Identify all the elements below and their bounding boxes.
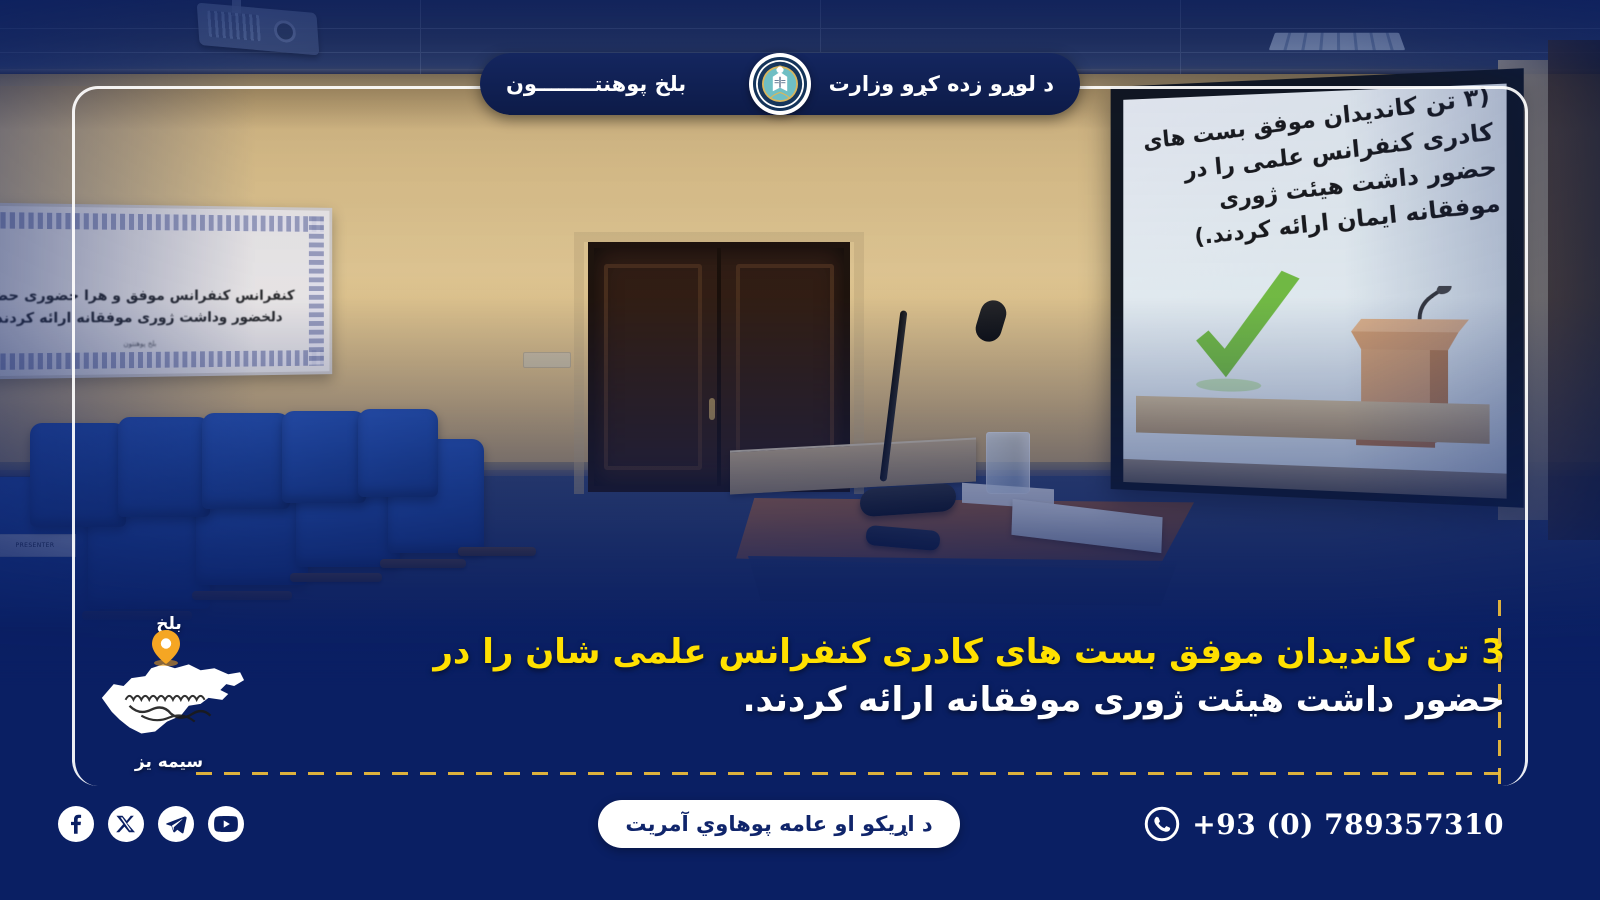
door-handle <box>709 398 715 420</box>
seat-back-row <box>30 423 126 527</box>
ceiling-light-panel <box>1269 33 1406 50</box>
auditorium-seats: PRESENTER <box>0 405 530 660</box>
header-bar: د لوړو زده کړو وزارت بلخ پوهنتــــــــون <box>480 53 1080 115</box>
phone-number: +93 (0) 789357310 <box>1192 808 1504 841</box>
seat-armrest <box>458 547 536 556</box>
banner-ornament-bottom <box>0 350 324 371</box>
seat-back-row <box>282 411 366 503</box>
projection-screen: (۳ تن کاندیدان موفق بست های کادری کنفران… <box>1111 68 1524 508</box>
social-links <box>58 806 244 842</box>
seat-armrest <box>290 573 382 582</box>
university-seal-icon <box>749 53 811 115</box>
seat-armrest <box>380 559 466 568</box>
slide-floor-strip <box>1136 396 1490 444</box>
poster-canvas: کنفرانس کنفرانس موفق و هرا حضوری حضور دل… <box>0 0 1600 900</box>
ministry-label: د لوړو زده کړو وزارت <box>829 72 1054 96</box>
seat-back-row <box>118 417 210 517</box>
contact-phone[interactable]: +93 (0) 789357310 <box>1144 806 1504 842</box>
banner-subtext: بلخ پوهنتون <box>0 338 329 350</box>
wall-switch-plate <box>523 352 571 368</box>
seat-back-row <box>202 413 290 509</box>
location-pin-icon <box>152 630 180 666</box>
banner-text: کنفرانس کنفرانس موفق و هرا حضوری حضور دل… <box>0 286 307 331</box>
youtube-icon[interactable] <box>208 806 244 842</box>
side-wall-dark <box>1548 40 1600 540</box>
caption-line-2: حضور داشت هیئت ژوری موفقانه ارائه کردند. <box>330 676 1505 724</box>
caption-line-1: 3 تن کاندیدان موفق بست های کادری کنفرانس… <box>330 628 1505 676</box>
region-bottom-label: سیمه یز <box>84 752 254 772</box>
seat-armrest <box>192 591 292 600</box>
university-label: بلخ پوهنتــــــــون <box>506 72 686 96</box>
caption-block: 3 تن کاندیدان موفق بست های کادری کنفرانس… <box>330 628 1505 725</box>
slide-text: (۳ تن کاندیدان موفق بست های کادری کنفران… <box>1127 84 1502 261</box>
dashed-divider-vertical <box>1498 600 1501 790</box>
green-checkmark-icon <box>1184 268 1310 400</box>
seat-tag-label: PRESENTER <box>0 534 75 557</box>
seat-back-row <box>358 409 438 497</box>
wall-framed-banner: کنفرانس کنفرانس موفق و هرا حضوری حضور دل… <box>0 202 332 380</box>
telegram-icon[interactable] <box>158 806 194 842</box>
water-glass <box>986 432 1030 494</box>
speaker-table-front <box>748 556 1178 606</box>
department-badge: د اړیکو او عامه پوهاوي آمریت <box>598 800 960 848</box>
region-logo: بلخ سیمه یز <box>84 608 254 768</box>
dashed-divider-horizontal <box>196 772 1501 775</box>
whatsapp-icon <box>1144 806 1180 842</box>
banner-ornament-top <box>0 211 324 232</box>
x-twitter-icon[interactable] <box>108 806 144 842</box>
projection-screen-surface: (۳ تن کاندیدان موفق بست های کادری کنفران… <box>1123 84 1506 476</box>
department-label: د اړیکو او عامه پوهاوي آمریت <box>625 812 932 836</box>
facebook-icon[interactable] <box>58 806 94 842</box>
door-split <box>717 248 721 486</box>
